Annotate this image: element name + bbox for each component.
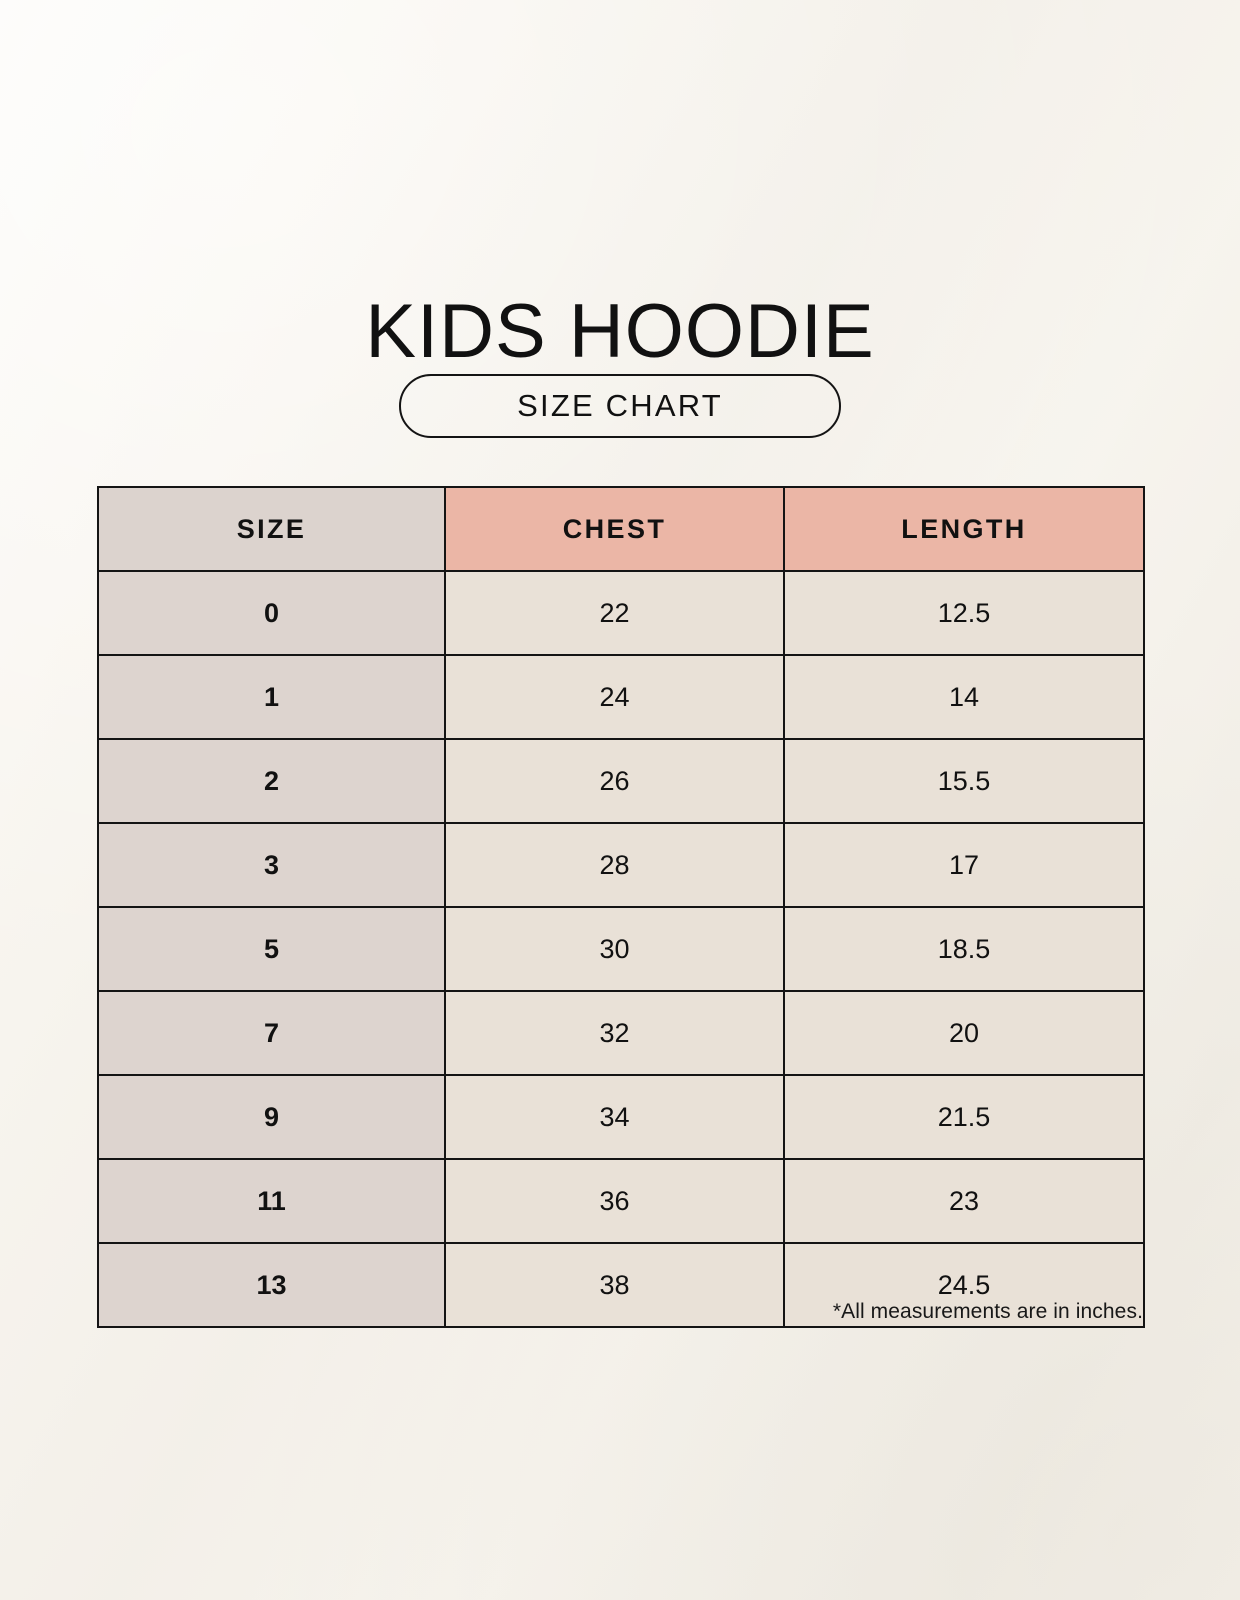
cell-size: 3 xyxy=(98,823,445,907)
cell-chest: 28 xyxy=(445,823,784,907)
cell-chest: 32 xyxy=(445,991,784,1075)
cell-size: 9 xyxy=(98,1075,445,1159)
size-chart-sheet: KIDS HOODIE SIZE CHART SIZE CHEST LENGTH… xyxy=(0,0,1240,1600)
table-row: 2 26 15.5 xyxy=(98,739,1144,823)
table-row: 3 28 17 xyxy=(98,823,1144,907)
table-row: 9 34 21.5 xyxy=(98,1075,1144,1159)
cell-size: 0 xyxy=(98,571,445,655)
cell-chest: 22 xyxy=(445,571,784,655)
cell-size: 11 xyxy=(98,1159,445,1243)
cell-size: 7 xyxy=(98,991,445,1075)
page-title: KIDS HOODIE xyxy=(0,294,1240,370)
size-chart-badge-container: SIZE CHART xyxy=(0,374,1240,438)
cell-length: 17 xyxy=(784,823,1144,907)
cell-length: 14 xyxy=(784,655,1144,739)
size-table: SIZE CHEST LENGTH 0 22 12.5 1 24 14 2 xyxy=(97,486,1145,1328)
column-header-chest: CHEST xyxy=(445,487,784,571)
cell-chest: 36 xyxy=(445,1159,784,1243)
size-chart-badge: SIZE CHART xyxy=(399,374,841,438)
cell-chest: 34 xyxy=(445,1075,784,1159)
size-table-body: 0 22 12.5 1 24 14 2 26 15.5 3 28 17 xyxy=(98,571,1144,1327)
table-header-row: SIZE CHEST LENGTH xyxy=(98,487,1144,571)
cell-chest: 24 xyxy=(445,655,784,739)
cell-length: 18.5 xyxy=(784,907,1144,991)
table-row: 5 30 18.5 xyxy=(98,907,1144,991)
column-header-size: SIZE xyxy=(98,487,445,571)
cell-length: 23 xyxy=(784,1159,1144,1243)
size-table-head: SIZE CHEST LENGTH xyxy=(98,487,1144,571)
table-row: 7 32 20 xyxy=(98,991,1144,1075)
cell-size: 2 xyxy=(98,739,445,823)
cell-length: 12.5 xyxy=(784,571,1144,655)
table-row: 11 36 23 xyxy=(98,1159,1144,1243)
cell-size: 5 xyxy=(98,907,445,991)
cell-chest: 26 xyxy=(445,739,784,823)
measurement-unit-note: *All measurements are in inches. xyxy=(97,1300,1143,1324)
cell-chest: 30 xyxy=(445,907,784,991)
cell-length: 15.5 xyxy=(784,739,1144,823)
cell-size: 1 xyxy=(98,655,445,739)
cell-length: 20 xyxy=(784,991,1144,1075)
cell-length: 21.5 xyxy=(784,1075,1144,1159)
table-row: 0 22 12.5 xyxy=(98,571,1144,655)
size-table-container: SIZE CHEST LENGTH 0 22 12.5 1 24 14 2 xyxy=(97,486,1143,1328)
table-row: 1 24 14 xyxy=(98,655,1144,739)
column-header-length: LENGTH xyxy=(784,487,1144,571)
